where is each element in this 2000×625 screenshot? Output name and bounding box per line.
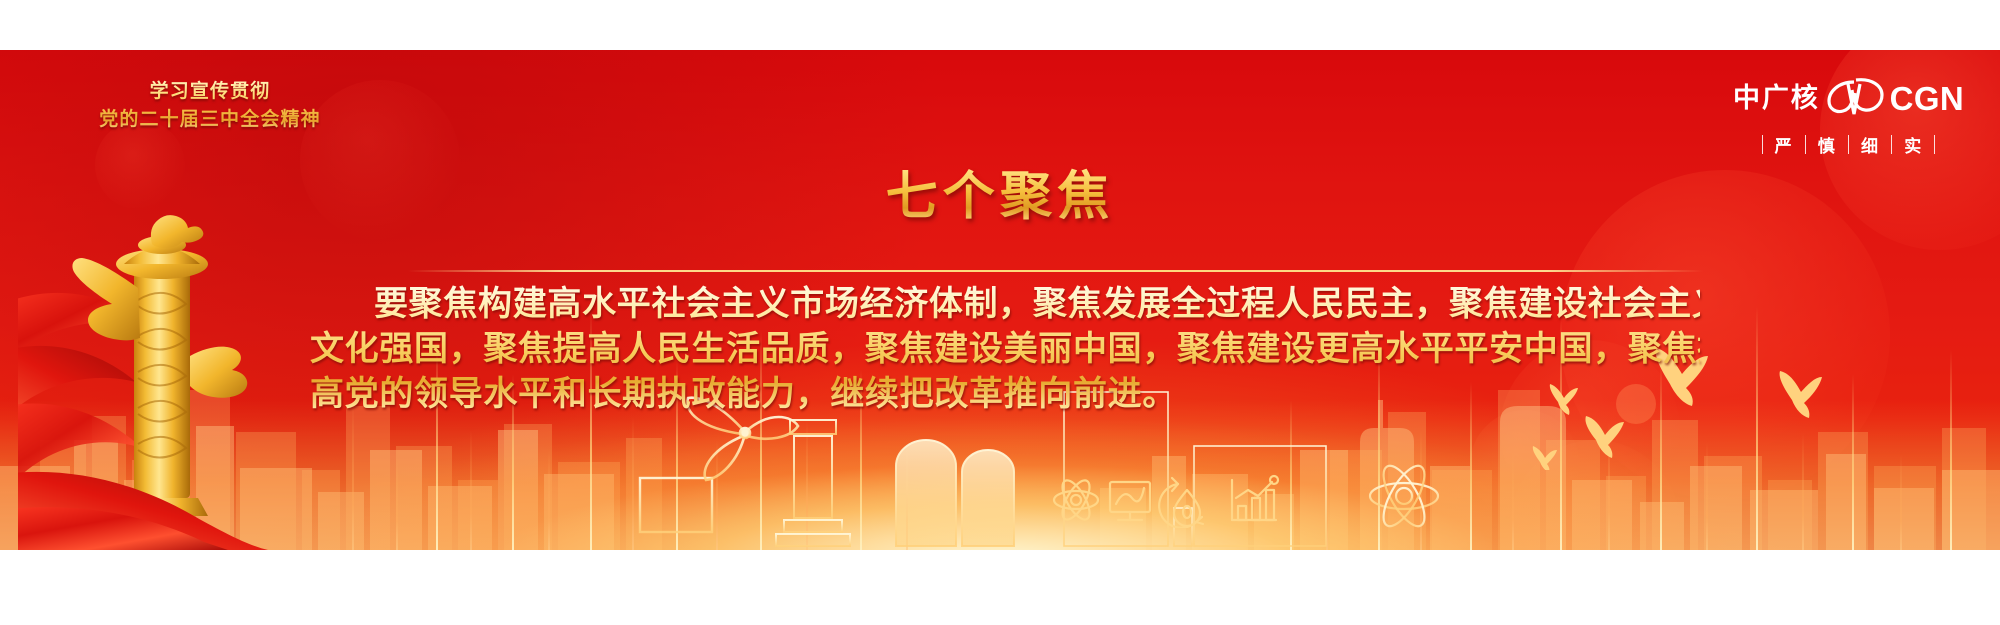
light-streak xyxy=(470,430,472,550)
gold-divider xyxy=(408,270,1703,272)
light-streak xyxy=(1756,306,1758,550)
tagline-word: 细 xyxy=(1849,132,1891,157)
cgn-logo-row: 中广核 CGN xyxy=(1733,76,1964,121)
cloud-board xyxy=(190,347,247,398)
campaign-slogan: 学习宣传贯彻 党的二十届三中全会精神 xyxy=(60,78,360,133)
bar-chart-growth-icon xyxy=(1232,476,1278,520)
body-copy: 要聚焦构建高水平社会主义市场经济体制，聚焦发展全过程人民民主，聚焦建设社会主义 … xyxy=(310,282,1700,417)
light-streak xyxy=(548,450,550,550)
solar-panel-icon xyxy=(640,478,712,546)
atom-icon xyxy=(1370,460,1438,532)
light-streak xyxy=(1802,432,1804,550)
light-streak xyxy=(1900,454,1902,550)
body-line-2: 文化强国，聚焦提高人民生活品质，聚焦建设美丽中国，聚焦建设更高水平平安中国，聚焦… xyxy=(310,327,1700,372)
tech-icon-row xyxy=(1050,468,1650,528)
nuclear-reactor-domes-icon xyxy=(896,440,1014,546)
banner-stage: 学习宣传贯彻 党的二十届三中全会精神 七个聚焦 要聚焦构建高水平社会主义市场经济… xyxy=(0,50,2000,550)
light-streak xyxy=(1326,454,1328,550)
light-streak xyxy=(1290,400,1292,550)
light-streak xyxy=(1950,350,1952,550)
slogan-line-2: 党的二十届三中全会精神 xyxy=(60,106,360,134)
light-streak xyxy=(352,400,354,550)
tagline-word: 实 xyxy=(1892,132,1934,157)
cgn-logo-en: CGN xyxy=(1890,82,1964,115)
body-line-1: 要聚焦构建高水平社会主义市场经济体制，聚焦发展全过程人民民主，聚焦建设社会主义 xyxy=(310,282,1700,327)
light-streak xyxy=(1512,450,1514,550)
wind-turbine-icon xyxy=(687,398,798,546)
light-streak xyxy=(1852,374,1854,550)
tagline-word: 严 xyxy=(1763,132,1805,157)
banner-root: 学习宣传贯彻 党的二十届三中全会精神 七个聚焦 要聚焦构建高水平社会主义市场经济… xyxy=(0,0,2000,625)
monitor-chart-icon xyxy=(1110,482,1150,520)
bokeh-circle xyxy=(1470,410,1580,520)
light-streak xyxy=(632,416,634,550)
grid-skyscraper-2 xyxy=(1174,446,1326,546)
atom-icon xyxy=(1054,476,1098,523)
light-streak xyxy=(716,440,718,550)
tagline-word: 慎 xyxy=(1806,132,1848,157)
bokeh-circle xyxy=(1510,440,1680,550)
page-title: 七个聚焦 xyxy=(0,154,2000,229)
light-streak xyxy=(906,446,908,550)
cgn-logo[interactable]: 中广核 CGN 严 慎 细 xyxy=(1733,76,1964,157)
light-streak xyxy=(1608,422,1610,550)
slogan-line-1: 学习宣传贯彻 xyxy=(60,78,360,106)
cgn-tagline: 严 慎 细 实 xyxy=(1733,132,1964,157)
light-streak xyxy=(1420,430,1422,550)
tagline-separator xyxy=(1934,135,1935,154)
cgn-logo-cn: 中广核 xyxy=(1733,85,1820,112)
light-streak xyxy=(1706,442,1708,550)
body-line-3: 高党的领导水平和长期执政能力，继续把改革推向前进。 xyxy=(310,372,1700,417)
light-streak xyxy=(806,420,808,550)
water-recycle-icon xyxy=(1159,478,1203,528)
cgn-swirl-icon xyxy=(1824,76,1886,121)
light-streak xyxy=(396,454,398,550)
